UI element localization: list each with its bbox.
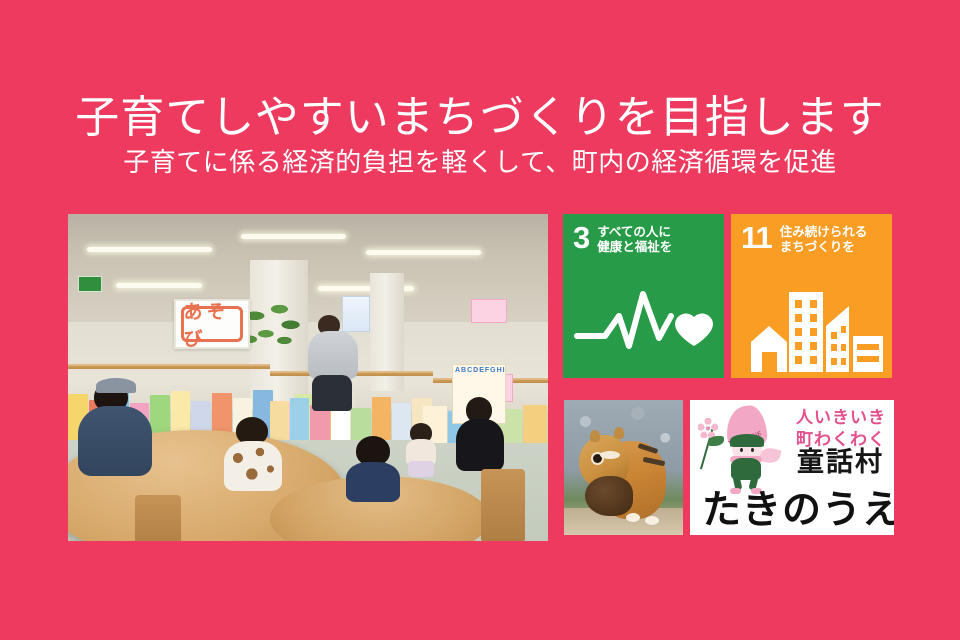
sdg-11-title-line1: 住み続けられる (780, 225, 868, 240)
person-foreground-child (346, 436, 402, 498)
logo-town-name: たきのうえ (702, 491, 894, 531)
sdg-badge-3: 3 すべての人に 健康と福祉を (563, 214, 724, 378)
shelf-board (68, 364, 270, 369)
chipmunk-ear (590, 430, 600, 442)
exit-sign-icon (78, 276, 102, 292)
ceiling-light (87, 247, 212, 252)
chipmunk-paw (645, 516, 659, 525)
page-title: 子育てしやすいまちづくりを目指します (0, 92, 960, 144)
logo-tagline-line1: 人いきいき (796, 407, 886, 429)
sdg-3-title-line2: 健康と福祉を (597, 240, 672, 255)
flower-icon (698, 418, 718, 438)
takinoue-logo: TAKINOUE 人いきいき 町わくわく 童話村 たきのうえ (690, 400, 894, 535)
person-foreground-child (222, 417, 284, 489)
pine-cone (585, 476, 633, 517)
fairy-mascot-icon: TAKINOUE (704, 406, 790, 492)
leaf-icon (708, 436, 724, 446)
logo-tagline: 人いきいき 町わくわく (796, 407, 886, 451)
chair (135, 495, 181, 541)
play-area-sign: あそび (174, 299, 250, 349)
city-buildings-icon (731, 276, 892, 372)
headline-block: 子育てしやすいまちづくりを目指します 子育てに係る経済的負担を軽くして、町内の経… (0, 92, 960, 178)
sdg-11-number: 11 (741, 223, 772, 253)
play-area-sign-label: あそび (181, 306, 243, 342)
page-subtitle: 子育てに係る経済的負担を軽くして、町内の経済循環を促進 (0, 146, 960, 178)
person-foreground-adult (78, 378, 158, 476)
chair (481, 469, 525, 541)
chipmunk-photo (564, 400, 683, 535)
sdg-11-title-line2: まちづくりを (780, 240, 868, 255)
person-child-standing (404, 423, 438, 475)
ceiling-light (116, 283, 202, 288)
sdg-3-header: 3 すべての人に 健康と福祉を (563, 214, 724, 255)
logo-village-text: 童話村 (797, 448, 884, 476)
sdg-3-title: すべての人に 健康と福祉を (597, 223, 672, 255)
sdg-11-header: 11 住み続けられる まちづくりを (731, 214, 892, 255)
mascot-eye (740, 448, 743, 452)
ceiling-light (241, 234, 347, 239)
library-photo: あそび (68, 214, 548, 541)
mascot-eye (751, 448, 754, 452)
chipmunk-ear (614, 427, 624, 439)
sdg-3-title-line1: すべての人に (597, 225, 672, 240)
person-standing (308, 315, 362, 411)
person-seated-adult (452, 397, 508, 471)
heartbeat-heart-icon (563, 276, 724, 372)
sdg-11-title: 住み続けられる まちづくりを (780, 223, 868, 255)
slide-canvas: 子育てしやすいまちづくりを目指します 子育てに係る経済的負担を軽くして、町内の経… (0, 0, 960, 640)
poster (471, 299, 507, 323)
sdg-3-number: 3 (573, 223, 589, 253)
sdg-badge-11: 11 住み続けられる まちづくりを (731, 214, 892, 378)
mascot-hair (730, 434, 764, 447)
potted-plant (241, 299, 303, 355)
ceiling-light (366, 250, 481, 255)
